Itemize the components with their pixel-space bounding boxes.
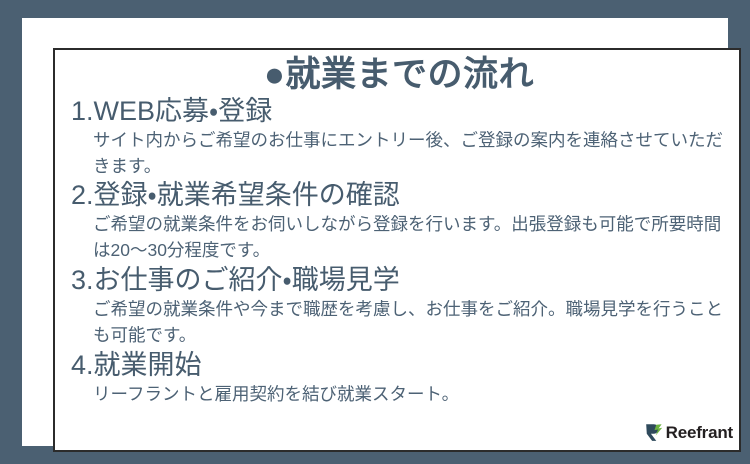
content-frame: ●就業までの流れ 1.WEB応募・登録 サイト内からご希望のお仕事にエントリー後… [53,48,741,452]
slide-backdrop: ●就業までの流れ 1.WEB応募・登録 サイト内からご希望のお仕事にエントリー後… [0,0,750,464]
step-item-4: 4.就業開始 リーフラントと雇用契約を結び就業スタート。 [71,349,731,408]
step-item-1: 1.WEB応募・登録 サイト内からご希望のお仕事にエントリー後、ご登録の案内を連… [71,95,731,180]
step-4-body: リーフラントと雇用契約を結び就業スタート。 [93,382,731,408]
step-1-body: サイト内からご希望のお仕事にエントリー後、ご登録の案内を連絡させていただきます。 [93,128,731,180]
page-title: ●就業までの流れ [264,57,534,94]
step-3-body: ご希望の就業条件や今まで職歴を考慮し、お仕事をご紹介。職場見学を行うことも可能で… [93,297,731,349]
step-1-heading: 1.WEB応募・登録 [71,95,731,128]
steps-list: 1.WEB応募・登録 サイト内からご希望のお仕事にエントリー後、ご登録の案内を連… [55,95,741,408]
reefrant-r-mark-icon [645,423,664,442]
step-2-body: ご希望の就業条件をお伺いしながら登録を行います。出張登録も可能で所要時間は20〜… [93,212,731,264]
slide-paper: ●就業までの流れ 1.WEB応募・登録 サイト内からご希望のお仕事にエントリー後… [22,18,728,446]
reefrant-wordmark: Reefrant [666,424,733,441]
step-3-heading: 3.お仕事のご紹介・職場見学 [71,264,731,297]
reefrant-logo: Reefrant [645,423,733,442]
slide-content: ●就業までの流れ 1.WEB応募・登録 サイト内からご希望のお仕事にエントリー後… [55,50,741,450]
step-item-2: 2.登録・就業希望条件の確認 ご希望の就業条件をお伺いしながら登録を行います。出… [71,179,731,264]
step-4-heading: 4.就業開始 [71,349,731,382]
step-item-3: 3.お仕事のご紹介・職場見学 ご希望の就業条件や今まで職歴を考慮し、お仕事をご紹… [71,264,731,349]
page-title-row: ●就業までの流れ [55,57,741,94]
step-2-heading: 2.登録・就業希望条件の確認 [71,179,731,212]
